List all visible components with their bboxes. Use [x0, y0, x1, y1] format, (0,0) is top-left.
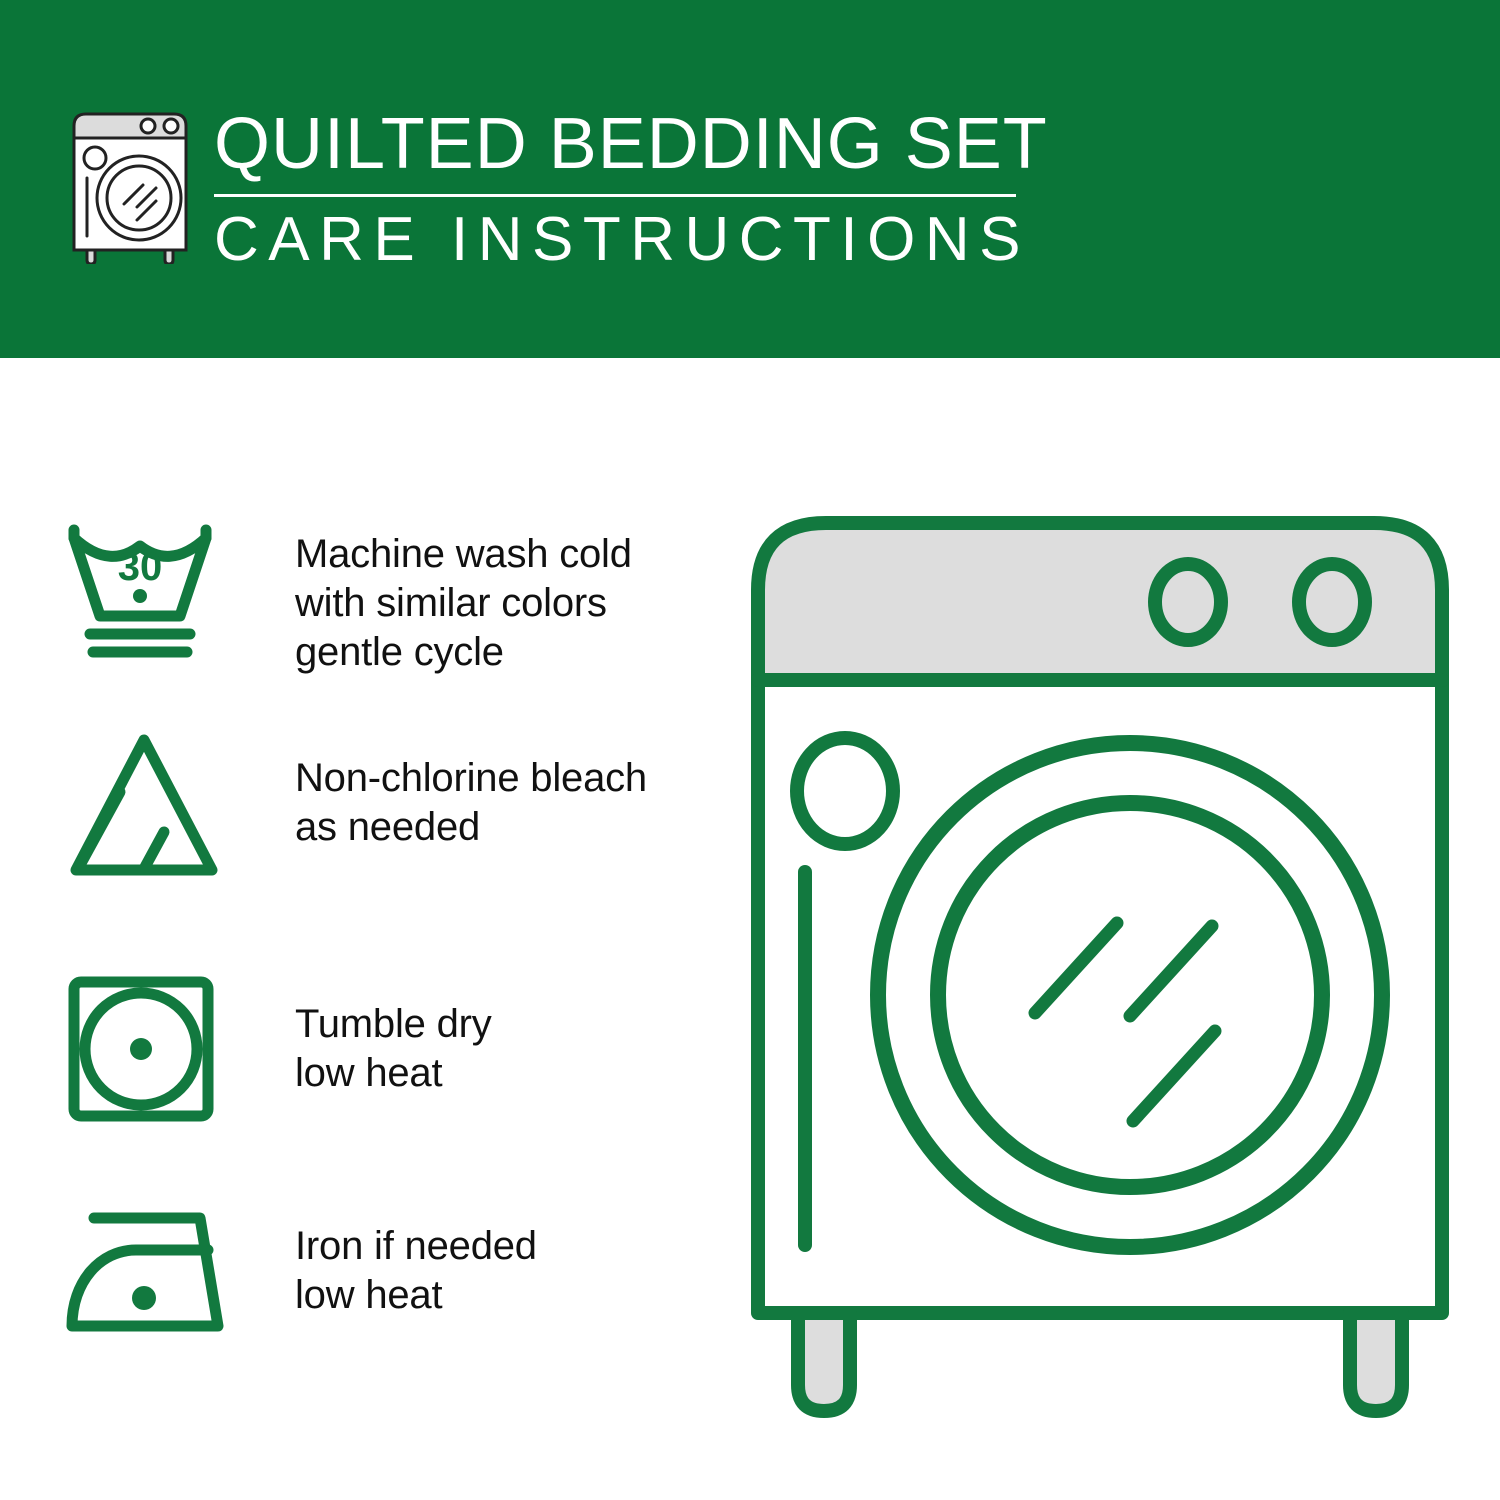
instruction-label-tumble-dry: Tumble dry low heat [295, 968, 492, 1098]
care-instructions-page: QUILTED BEDDING SET CARE INSTRUCTIONS 30 [0, 0, 1500, 1500]
drum-door-inner-ring [938, 803, 1322, 1187]
instruction-row-iron: Iron if needed low heat [0, 1190, 730, 1355]
tumble-dry-low-icon [60, 968, 240, 1133]
title-divider [214, 194, 1016, 197]
header-text-block: QUILTED BEDDING SET CARE INSTRUCTIONS [214, 104, 1019, 275]
bleach-triangle-nonchlorine-icon [60, 722, 240, 887]
instruction-row-bleach: Non-chlorine bleach as needed [0, 722, 730, 887]
washing-machine-icon [60, 104, 210, 264]
section-subtitle: CARE INSTRUCTIONS [214, 205, 1019, 275]
control-knob-left [1155, 564, 1221, 640]
control-knob-right [1299, 564, 1365, 640]
header-band: QUILTED BEDDING SET CARE INSTRUCTIONS [0, 0, 1500, 358]
svg-text:30: 30 [118, 545, 163, 589]
leg-right [1350, 1313, 1402, 1411]
wash-tub-30-gentle-icon: 30 [60, 512, 240, 677]
instruction-label-wash: Machine wash cold with similar colors ge… [295, 512, 632, 677]
leg-left [798, 1313, 850, 1411]
detergent-dispenser [797, 738, 893, 844]
instruction-label-bleach: Non-chlorine bleach as needed [295, 722, 647, 852]
page-title: QUILTED BEDDING SET [214, 104, 1019, 184]
instruction-label-iron: Iron if needed low heat [295, 1190, 537, 1320]
instruction-row-wash: 30 Machine wash cold with similar colors… [0, 512, 730, 677]
instruction-row-tumble-dry: Tumble dry low heat [0, 968, 730, 1133]
iron-low-heat-icon [60, 1190, 240, 1355]
washing-machine-illustration [740, 495, 1460, 1425]
